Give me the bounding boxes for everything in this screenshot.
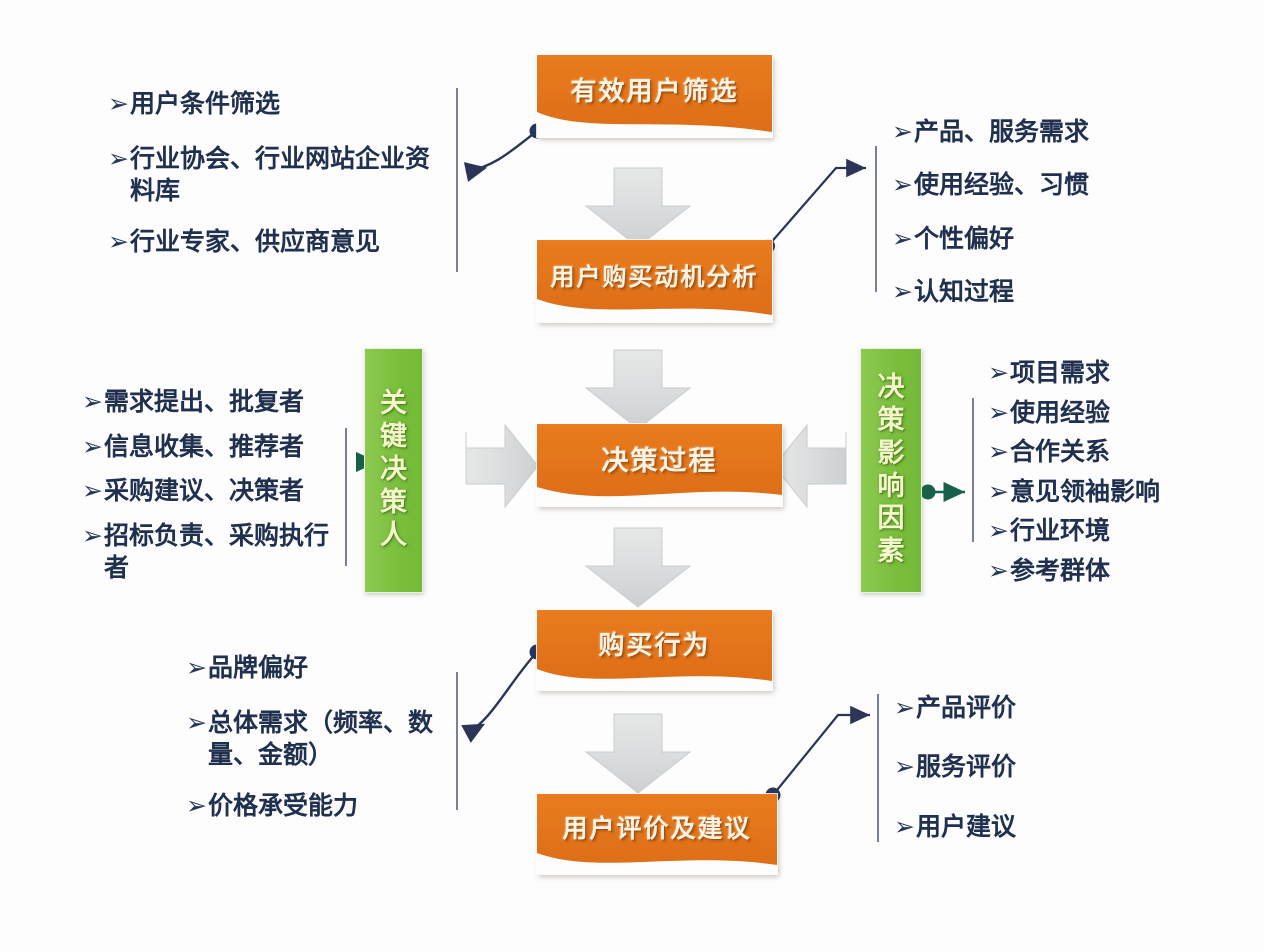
bullet-group-motive-factors: ➢ 产品、服务需求 ➢ 使用经验、习惯 ➢ 个性偏好 ➢ 认知过程: [892, 116, 1192, 307]
bullet-marker-icon: ➢: [988, 556, 1009, 587]
bullet-marker-icon: ➢: [988, 516, 1009, 547]
flow-step-3-label: 决策过程: [602, 439, 718, 478]
list-item-label: 品牌偏好: [208, 652, 308, 685]
list-item-label: 使用经验、习惯: [914, 169, 1089, 200]
bullet-group-evaluation-outputs: ➢ 产品评价 ➢ 服务评价 ➢ 用户建议: [894, 692, 1134, 842]
flow-arrow-step1-step2: [586, 168, 690, 247]
list-item-label: 项目需求: [1010, 358, 1110, 389]
list-item[interactable]: ➢ 用户条件筛选: [108, 88, 444, 121]
bullet-group-decision-maker-roles: ➢ 需求提出、批复者 ➢ 信息收集、推荐者 ➢ 采购建议、决策者 ➢ 招标负责、…: [82, 386, 344, 585]
list-item-label: 采购建议、决策者: [104, 475, 304, 508]
list-item[interactable]: ➢ 个性偏好: [892, 223, 1192, 254]
list-item-label: 合作关系: [1010, 437, 1110, 468]
bullet-marker-icon: ➢: [186, 707, 207, 740]
list-item[interactable]: ➢ 使用经验: [988, 398, 1208, 429]
flow-step-1[interactable]: 有效用户筛选: [537, 55, 772, 137]
flow-arrow-step3-step4: [586, 528, 690, 607]
bullet-marker-icon: ➢: [894, 751, 915, 782]
side-box-char: 因: [878, 503, 905, 536]
bullet-marker-icon: ➢: [892, 223, 913, 254]
list-item-label: 价格承受能力: [208, 790, 358, 823]
list-item-label: 个性偏好: [914, 223, 1014, 254]
list-item[interactable]: ➢ 产品评价: [894, 692, 1134, 723]
bullet-marker-icon: ➢: [108, 226, 129, 259]
ribbon-wave: [537, 297, 772, 323]
flow-step-1-label: 有效用户筛选: [570, 71, 738, 108]
bullet-marker-icon: ➢: [988, 398, 1009, 429]
side-box-char: 影: [878, 438, 905, 471]
list-item[interactable]: ➢ 信息收集、推荐者: [82, 431, 344, 464]
list-item-label: 招标负责、采购执行者: [104, 520, 344, 585]
list-item-label: 信息收集、推荐者: [104, 431, 304, 464]
side-box-char: 策: [878, 405, 905, 438]
list-item[interactable]: ➢ 认知过程: [892, 276, 1192, 307]
bullet-marker-icon: ➢: [108, 143, 129, 176]
list-item-label: 使用经验: [1010, 398, 1110, 429]
list-item[interactable]: ➢ 采购建议、决策者: [82, 475, 344, 508]
side-box-char: 决: [380, 454, 407, 487]
side-box-key-decision-makers[interactable]: 关 键 决 策 人: [364, 348, 423, 593]
ribbon-wave: [537, 481, 782, 507]
side-box-char: 人: [380, 520, 407, 553]
side-box-char: 策: [380, 487, 407, 520]
flow-arrow-step2-step3: [586, 350, 690, 429]
bullet-marker-icon: ➢: [82, 431, 103, 464]
list-item[interactable]: ➢ 行业环境: [988, 516, 1208, 547]
bullet-marker-icon: ➢: [988, 437, 1009, 468]
list-item[interactable]: ➢ 使用经验、习惯: [892, 169, 1192, 200]
list-item[interactable]: ➢ 行业专家、供应商意见: [108, 226, 444, 259]
flow-step-5-label: 用户评价及建议: [562, 809, 751, 845]
list-item[interactable]: ➢ 品牌偏好: [186, 652, 448, 685]
bullet-group-influence-factors: ➢ 项目需求 ➢ 使用经验 ➢ 合作关系 ➢ 意见领袖影响 ➢ 行业环境 ➢ 参…: [988, 358, 1208, 586]
bullet-marker-icon: ➢: [892, 169, 913, 200]
side-box-char: 键: [380, 421, 407, 454]
flow-arrow-factors-to-step3: [774, 425, 846, 507]
flow-step-4-label: 购买行为: [598, 625, 710, 662]
bullet-marker-icon: ➢: [186, 652, 207, 685]
bullet-marker-icon: ➢: [186, 790, 207, 823]
bullet-marker-icon: ➢: [82, 475, 103, 508]
bullet-marker-icon: ➢: [892, 276, 913, 307]
bullet-marker-icon: ➢: [894, 811, 915, 842]
connector-step5-to-evaluation: [766, 715, 871, 803]
flow-step-2-label: 用户购买动机分析: [551, 257, 759, 292]
ribbon-wave: [537, 849, 777, 875]
list-item[interactable]: ➢ 总体需求（频率、数量、金额）: [186, 707, 448, 772]
list-item-label: 意见领袖影响: [1010, 477, 1160, 508]
bullet-group-screening-criteria: ➢ 用户条件筛选 ➢ 行业协会、行业网站企业资料库 ➢ 行业专家、供应商意见: [108, 88, 444, 258]
list-item[interactable]: ➢ 合作关系: [988, 437, 1208, 468]
side-box-char: 决: [878, 372, 905, 405]
bullet-marker-icon: ➢: [108, 88, 129, 121]
list-item-label: 参考群体: [1010, 556, 1110, 587]
connector-step1-to-screening: [466, 124, 545, 173]
list-item-label: 总体需求（频率、数量、金额）: [208, 707, 448, 772]
list-item-label: 用户条件筛选: [130, 88, 280, 121]
list-item[interactable]: ➢ 用户建议: [894, 811, 1134, 842]
flow-arrow-step4-step5: [586, 714, 690, 793]
list-item-label: 行业专家、供应商意见: [130, 226, 380, 259]
list-item[interactable]: ➢ 需求提出、批复者: [82, 386, 344, 419]
flow-step-5[interactable]: 用户评价及建议: [537, 794, 777, 874]
rule-screening: [456, 88, 458, 272]
list-item-label: 需求提出、批复者: [104, 386, 304, 419]
list-item-label: 用户建议: [916, 811, 1016, 842]
list-item[interactable]: ➢ 行业协会、行业网站企业资料库: [108, 143, 444, 208]
bullet-marker-icon: ➢: [82, 386, 103, 419]
list-item-label: 行业协会、行业网站企业资料库: [130, 143, 444, 208]
bullet-marker-icon: ➢: [988, 477, 1009, 508]
bullet-marker-icon: ➢: [892, 116, 913, 147]
list-item[interactable]: ➢ 参考群体: [988, 556, 1208, 587]
list-item[interactable]: ➢ 服务评价: [894, 751, 1134, 782]
connector-step4-to-attributes: [466, 645, 545, 735]
flow-step-3[interactable]: 决策过程: [537, 424, 782, 506]
flow-step-2[interactable]: 用户购买动机分析: [537, 240, 772, 322]
list-item-label: 产品评价: [916, 692, 1016, 723]
bullet-group-purchase-attributes: ➢ 品牌偏好 ➢ 总体需求（频率、数量、金额） ➢ 价格承受能力: [186, 652, 448, 822]
connector-step2-to-motive: [761, 168, 866, 253]
rule-roles: [345, 428, 347, 566]
list-item-label: 行业环境: [1010, 516, 1110, 547]
side-box-char: 响: [878, 471, 905, 504]
bullet-marker-icon: ➢: [82, 520, 103, 553]
side-box-decision-factors[interactable]: 决 策 影 响 因 素: [860, 348, 922, 593]
list-item[interactable]: ➢ 产品、服务需求: [892, 116, 1192, 147]
rule-evaluation: [877, 694, 879, 842]
side-box-char: 关: [380, 388, 407, 421]
list-item-label: 产品、服务需求: [914, 116, 1089, 147]
ribbon-wave: [537, 112, 772, 138]
rule-influence: [972, 398, 974, 542]
ribbon-wave: [537, 665, 772, 691]
list-item-label: 服务评价: [916, 751, 1016, 782]
list-item[interactable]: ➢ 价格承受能力: [186, 790, 448, 823]
diagram-canvas: 有效用户筛选 用户购买动机分析 决策过程 购买行为 用户评价及建议 关 键 决 …: [0, 0, 1264, 952]
connector-factors-to-influence: [921, 485, 966, 500]
bullet-marker-icon: ➢: [988, 358, 1009, 389]
rule-attributes: [456, 672, 458, 810]
list-item-label: 认知过程: [914, 276, 1014, 307]
list-item[interactable]: ➢ 招标负责、采购执行者: [82, 520, 344, 585]
rule-motive: [875, 146, 877, 292]
flow-step-4[interactable]: 购买行为: [537, 610, 772, 690]
list-item[interactable]: ➢ 项目需求: [988, 358, 1208, 389]
flow-arrow-keydecider-to-step3: [466, 425, 538, 507]
bullet-marker-icon: ➢: [894, 692, 915, 723]
side-box-char: 素: [878, 536, 905, 569]
list-item[interactable]: ➢ 意见领袖影响: [988, 477, 1208, 508]
